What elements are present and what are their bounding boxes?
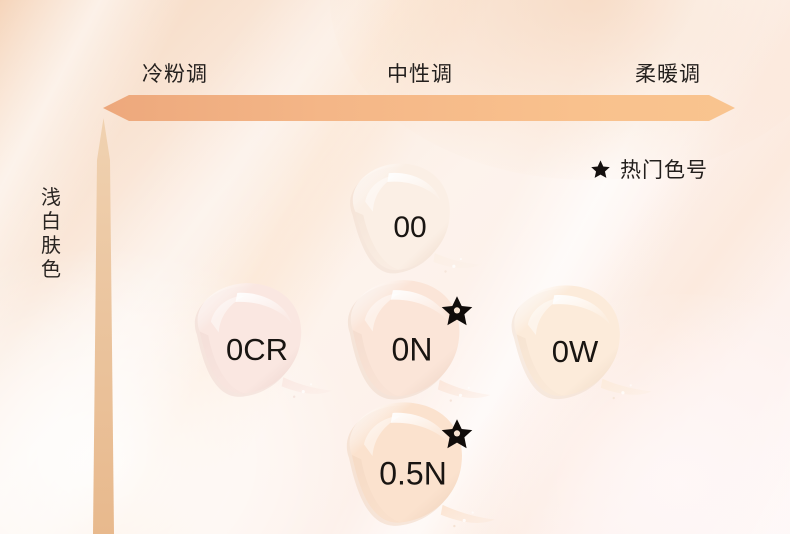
- skin-depth-axis-label-char: 肤: [38, 234, 64, 258]
- skin-depth-axis-label-char: 浅: [38, 186, 64, 210]
- legend-label: 热门色号: [620, 154, 708, 184]
- skin-depth-axis-label-char: 色: [38, 258, 64, 282]
- swatch-0cr-smear: [176, 271, 338, 428]
- undertone-label-soft-warm: 柔暖调: [635, 58, 701, 88]
- skin-depth-axis-label: 浅 白 肤 色: [38, 186, 64, 282]
- legend: 热门色号: [590, 154, 708, 184]
- undertone-label-neutral: 中性调: [387, 58, 453, 88]
- popular-star-icon: [440, 294, 474, 328]
- skin-depth-axis-label-char: 白: [38, 210, 64, 234]
- foundation-shade-chart: 冷粉调 中性调 柔暖调 浅 白 肤 色 热门色号: [0, 0, 790, 534]
- popular-star-icon: [440, 417, 474, 451]
- undertone-axis-arrow: [103, 94, 735, 122]
- undertone-label-cool-pink: 冷粉调: [142, 58, 208, 88]
- skin-depth-axis-arrow: [84, 118, 124, 534]
- swatch-0w-smear: [492, 272, 658, 432]
- swatch-05n-smear: [327, 390, 500, 534]
- star-icon: [590, 159, 611, 180]
